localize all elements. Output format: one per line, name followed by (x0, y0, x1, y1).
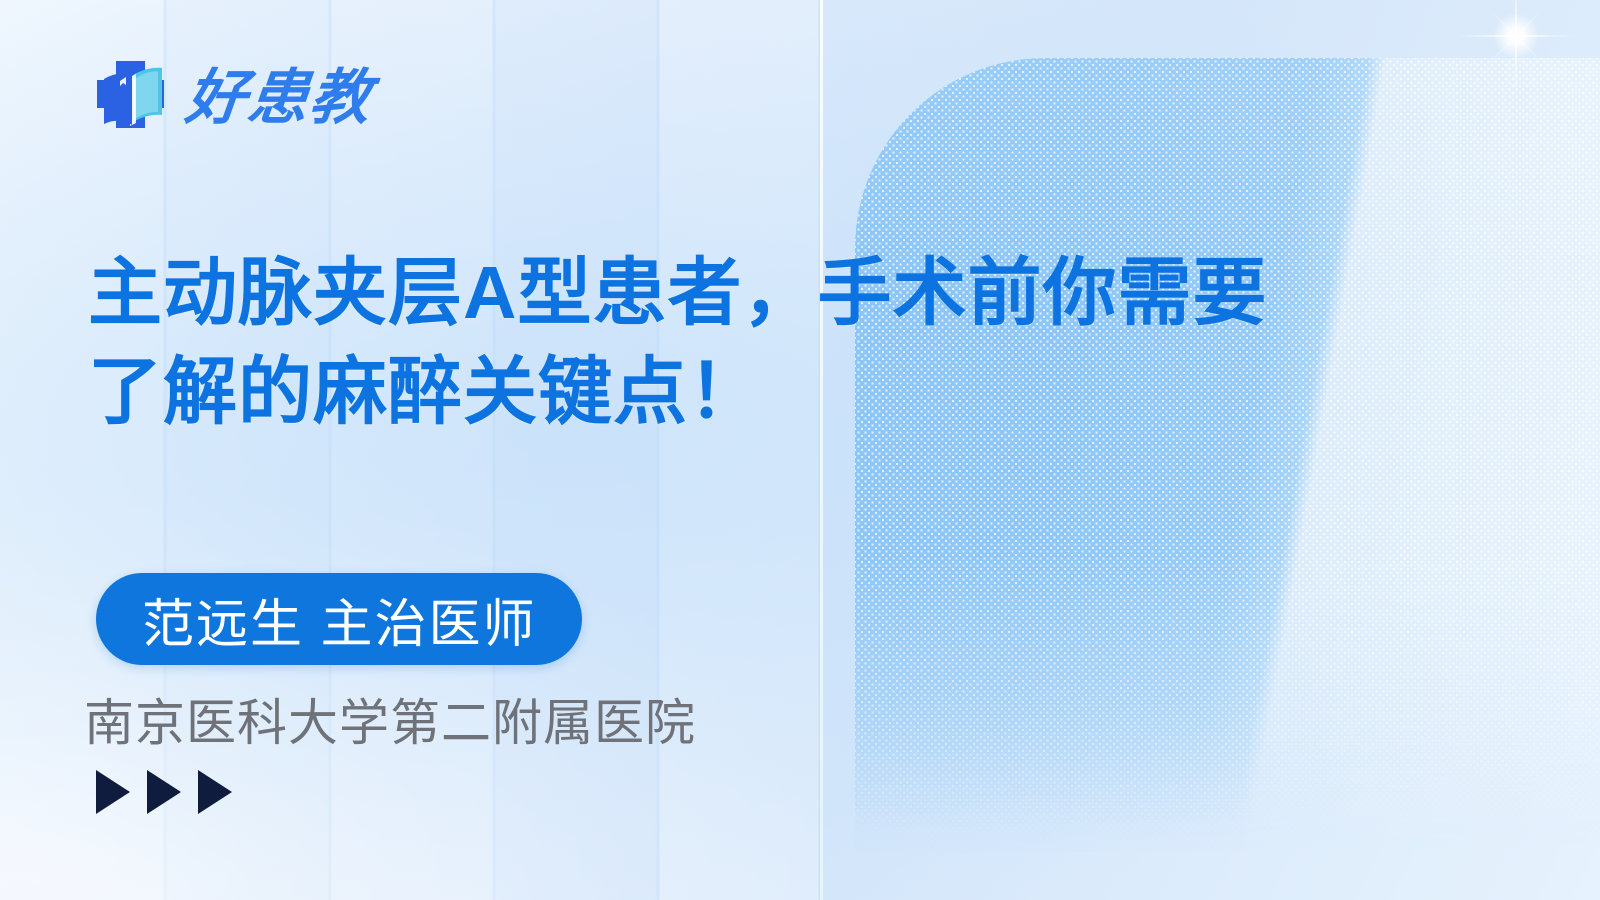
cover-slide: 好患教 主动脉夹层A型患者，手术前你需要了解的麻醉关键点！ 范远生 主治医师 南… (0, 0, 1600, 900)
page-title: 主动脉夹层A型患者，手术前你需要了解的麻醉关键点！ (88, 243, 1268, 441)
brand-name: 好患教 (183, 68, 375, 128)
background-seam-line (820, 0, 823, 900)
medical-cross-book-icon (90, 55, 172, 141)
brand-logo[interactable]: 好患教 (90, 55, 372, 141)
panel-sheen (855, 58, 1600, 858)
play-triangle-icon (198, 770, 232, 814)
play-triangle-icon (147, 770, 181, 814)
hospital-name: 南京医科大学第二附属医院 (84, 683, 696, 755)
play-arrows-decoration (96, 770, 232, 814)
rounded-halftone-panel (855, 58, 1600, 858)
play-triangle-icon (96, 770, 130, 814)
speaker-badge: 范远生 主治医师 (96, 573, 582, 665)
